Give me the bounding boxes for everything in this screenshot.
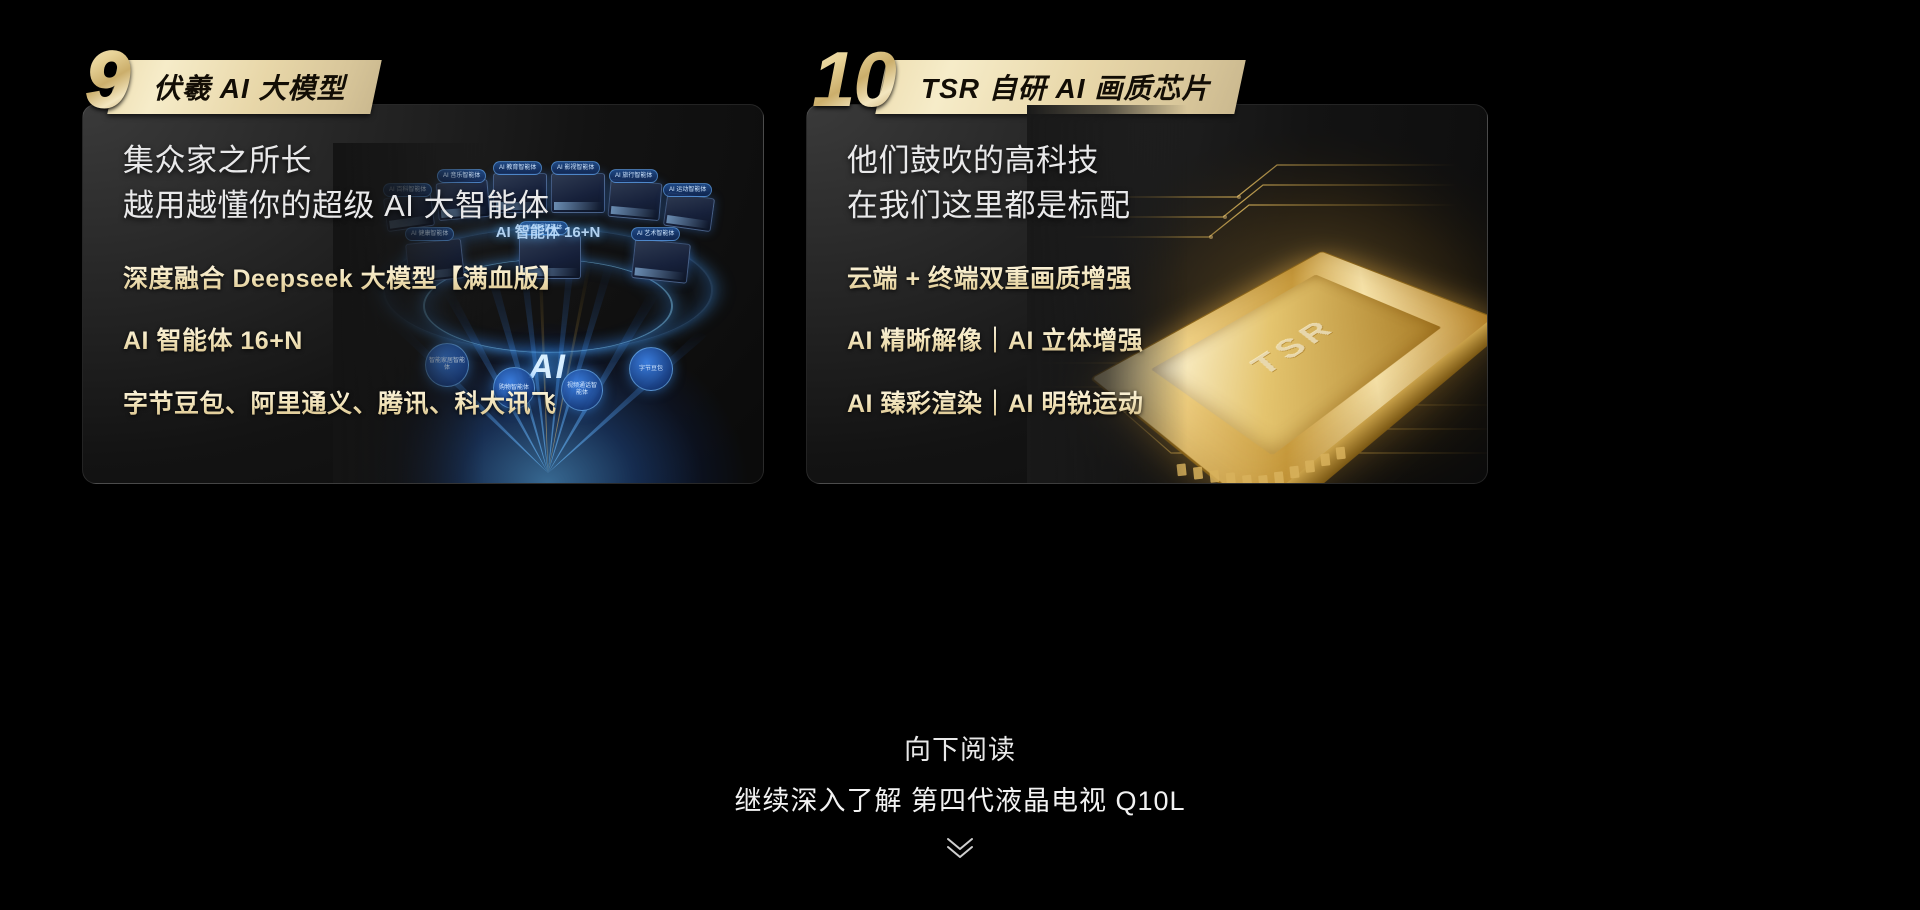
footer-line-2: 继续深入了解 第四代液晶电视 Q10L (0, 779, 1920, 818)
bullet-list-9: 深度融合 Deepseek 大模型【满血版】 AI 智能体 16+N 字节豆包、… (123, 263, 565, 421)
section-banner-title-10: TSR 自研 AI 画质芯片 (921, 67, 1210, 107)
section-number-9: 9 (86, 40, 131, 118)
headline-line: 集众家之所长 (123, 139, 565, 184)
bullet-item: AI 臻彩渲染｜AI 明锐运动 (847, 388, 1143, 421)
section-header-9: 9 伏羲 AI 大模型 (86, 32, 376, 118)
bullet-item: 云端 + 终端双重画质增强 (847, 263, 1143, 296)
agent-screen (631, 238, 691, 284)
agent-pod: 视频通话智能体 (561, 369, 603, 411)
bullet-list-10: 云端 + 终端双重画质增强 AI 精晰解像｜AI 立体增强 AI 臻彩渲染｜AI… (847, 263, 1143, 421)
feature-card-10: TSR (806, 104, 1488, 484)
agent-screen-label: AI 运动智能体 (663, 183, 712, 197)
feature-card-9: AI 百科智能体 AI 音乐智能体 AI 教育智能体 AI 影视智能体 AI 旅… (82, 104, 764, 484)
scroll-footer: 向下阅读 继续深入了解 第四代液晶电视 Q10L (0, 728, 1920, 865)
page-root: 9 伏羲 AI 大模型 (0, 0, 1920, 910)
bullet-item: 字节豆包、阿里通义、腾讯、科大讯飞 (123, 388, 565, 421)
agent-screen (607, 179, 662, 221)
card-copy-9: 集众家之所长 越用越懂你的超级 AI 大智能体 深度融合 Deepseek 大模… (123, 139, 565, 420)
agent-pod: 字节豆包 (629, 347, 673, 391)
agent-screen-label: AI 艺术智能体 (631, 227, 680, 241)
headline-line: 越用越懂你的超级 AI 大智能体 (123, 184, 565, 229)
bullet-item: AI 精晰解像｜AI 立体增强 (847, 325, 1143, 358)
bullet-item: AI 智能体 16+N (123, 325, 565, 358)
chevron-double-down-icon[interactable] (943, 834, 977, 860)
section-banner-9: 伏羲 AI 大模型 (108, 60, 382, 114)
card-copy-10: 他们鼓吹的高科技 在我们这里都是标配 云端 + 终端双重画质增强 AI 精晰解像… (847, 139, 1143, 420)
bullet-item: 深度融合 Deepseek 大模型【满血版】 (123, 263, 565, 296)
section-banner-title-9: 伏羲 AI 大模型 (153, 67, 346, 107)
footer-line-1: 向下阅读 (0, 728, 1920, 767)
headline-line: 他们鼓吹的高科技 (847, 139, 1143, 184)
section-number-10: 10 (812, 40, 899, 118)
headline-line: 在我们这里都是标配 (847, 184, 1143, 229)
agent-screen-label: AI 旅行智能体 (609, 169, 658, 183)
